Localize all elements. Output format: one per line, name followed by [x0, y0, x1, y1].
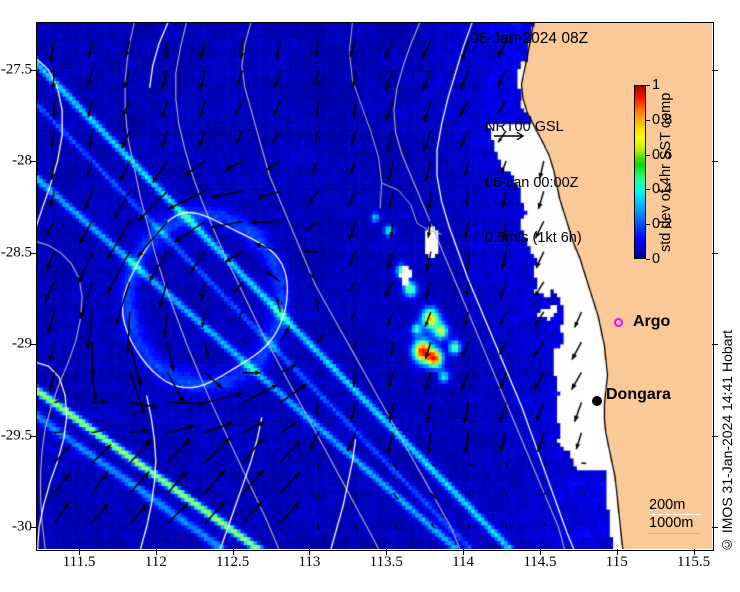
- colorbar-tick-mark: [646, 85, 650, 86]
- colorbar-tick-mark: [646, 120, 650, 121]
- x-axis-tick-label: 115.5: [677, 554, 710, 571]
- y-axis-tick-label: -28.5: [1, 244, 32, 261]
- depth-legend-200m-label: 200m: [649, 497, 701, 514]
- y-axis-tick-label: -27.5: [1, 61, 32, 78]
- x-axis-tick-label: 113: [298, 554, 320, 571]
- colorbar-axis-label: std dev of 4hr SST comp: [657, 85, 675, 259]
- colorbar-tick-mark: [646, 155, 650, 156]
- x-axis-tick-label: 111.5: [63, 554, 96, 571]
- y-axis-tick-mark-right: [712, 70, 718, 71]
- map-plot-area[interactable]: [36, 22, 712, 549]
- city-dot-icon: [592, 396, 602, 406]
- y-axis-tick-mark-right: [712, 161, 718, 162]
- x-axis-tick-label: 112.5: [216, 554, 249, 571]
- x-axis-tick-label: 113.5: [370, 554, 403, 571]
- x-axis-tick-label: 112: [145, 554, 167, 571]
- depth-legend-1000m-label: 1000m: [649, 515, 701, 532]
- y-axis-tick-label: -28: [12, 153, 32, 170]
- map-overlay-layer: [36, 22, 712, 549]
- current-overlay-annotation: NRT00 GSL 06-Jan 00:00Z 0.5m/s (1kt 6h): [485, 81, 582, 285]
- city-label-dongara: Dongara: [606, 386, 671, 404]
- colorbar-tick-mark: [646, 259, 650, 260]
- depth-legend-1000m-rule: [649, 533, 701, 534]
- sst-map-figure: 06-Jan-2024 08Z NRT00 GSL 06-Jan 00:00Z …: [0, 0, 740, 592]
- colorbar-tick-mark: [646, 224, 650, 225]
- x-axis-tick-label: 114.5: [523, 554, 556, 571]
- y-axis-tick-label: -29: [12, 336, 32, 353]
- y-axis-tick-mark-right: [712, 527, 718, 528]
- gsl-timestamp-label: 06-Jan 00:00Z: [485, 174, 582, 193]
- y-axis-tick-mark-right: [712, 344, 718, 345]
- argo-legend: Argo: [614, 313, 670, 331]
- y-axis-tick-mark-right: [712, 436, 718, 437]
- colorbar-tick-mark: [646, 189, 650, 190]
- argo-legend-label: Argo: [633, 313, 670, 331]
- y-axis-tick-label: -30: [12, 519, 32, 536]
- y-axis-tick-label: -29.5: [1, 427, 32, 444]
- colorbar: 00.20.40.60.81: [634, 85, 646, 259]
- argo-float-marker-icon: [614, 318, 623, 327]
- depth-contour-legend: 200m 1000m: [649, 497, 701, 534]
- x-axis-tick-label: 114: [452, 554, 474, 571]
- x-axis-tick-label: 115: [606, 554, 628, 571]
- map-datestamp: 06-Jan-2024 08Z: [470, 30, 588, 48]
- y-axis-tick-mark-right: [712, 253, 718, 254]
- reference-arrow-icon: [493, 130, 527, 142]
- colorbar-gradient: [634, 85, 646, 259]
- gsl-scale-label: 0.5m/s (1kt 6h): [485, 229, 582, 248]
- copyright-notice: © IMOS 31-Jan-2024 14:41 Hobart: [719, 330, 735, 553]
